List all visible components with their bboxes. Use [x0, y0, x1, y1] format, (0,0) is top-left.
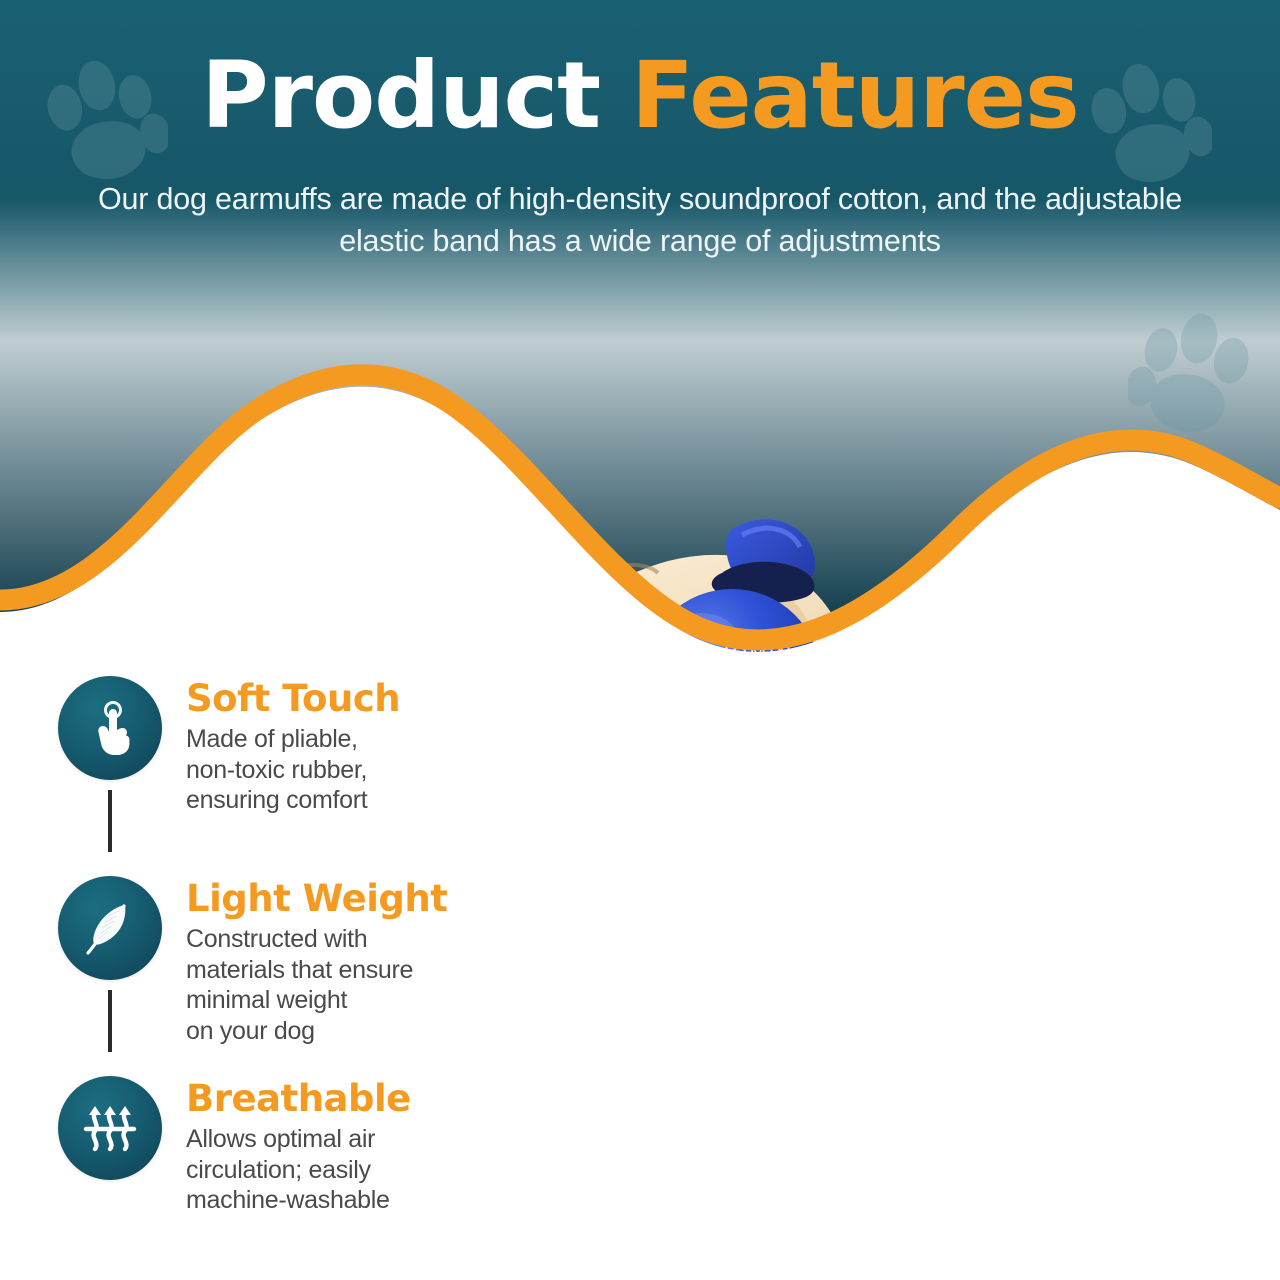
feature-item-light-weight: Light Weight Constructed with materials …: [48, 876, 518, 1052]
feature-connector-line: [108, 990, 112, 1052]
feature-text-column: Breathable Allows optimal air circulatio…: [172, 1076, 411, 1216]
page-subtitle: Our dog earmuffs are made of high-densit…: [60, 178, 1220, 262]
feature-icon-column: [48, 676, 172, 852]
feature-text-column: Light Weight Constructed with materials …: [172, 876, 447, 1046]
feature-description: Allows optimal air circulation; easily m…: [186, 1124, 411, 1216]
brand-label: CHOMIN: [699, 642, 794, 666]
touch-hand-icon: [58, 676, 162, 780]
page-title: Product Features: [0, 48, 1280, 145]
feature-icon-column: [48, 1076, 172, 1180]
feature-title: Breathable: [186, 1080, 411, 1117]
page-title-part2: Features: [631, 42, 1079, 149]
feature-list: Soft Touch Made of pliable, non-toxic ru…: [48, 676, 518, 1216]
page-title-part1: Product: [201, 42, 600, 149]
airflow-icon: [58, 1076, 162, 1180]
feature-item-breathable: Breathable Allows optimal air circulatio…: [48, 1076, 518, 1216]
feature-description: Constructed with materials that ensure m…: [186, 924, 447, 1046]
paw-print-icon-right-bottom: [1128, 305, 1258, 440]
product-features-poster: Product Features Our dog earmuffs are ma…: [0, 0, 1280, 1280]
feature-title: Light Weight: [186, 880, 447, 917]
feature-item-soft-touch: Soft Touch Made of pliable, non-toxic ru…: [48, 676, 518, 852]
feature-text-column: Soft Touch Made of pliable, non-toxic ru…: [172, 676, 400, 816]
feather-icon: [58, 876, 162, 980]
feature-connector-line: [108, 790, 112, 852]
feature-icon-column: [48, 876, 172, 1052]
feature-title: Soft Touch: [186, 680, 400, 717]
product-photo-dog-wearing-earmuffs: CHOMIN: [470, 495, 1170, 1280]
feature-description: Made of pliable, non-toxic rubber, ensur…: [186, 724, 400, 816]
